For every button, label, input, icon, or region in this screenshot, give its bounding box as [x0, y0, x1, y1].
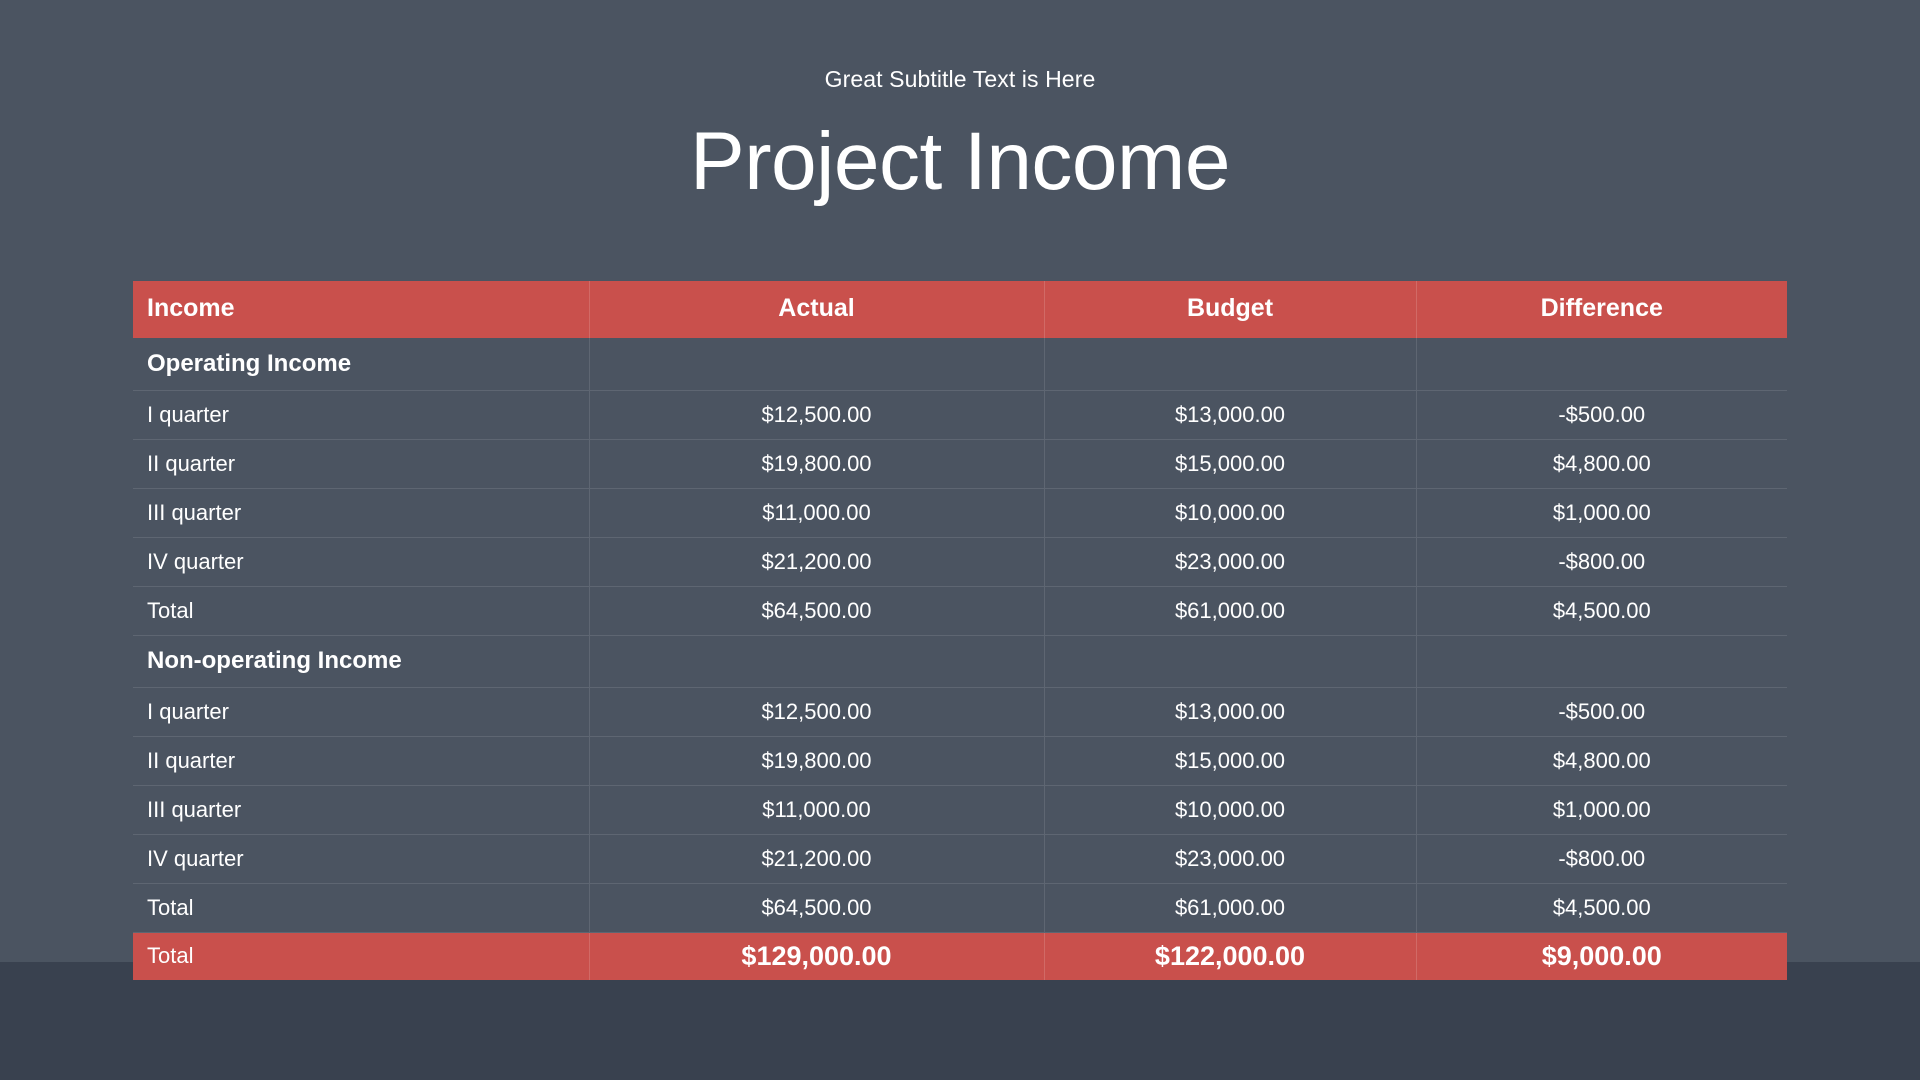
row-label: III quarter	[133, 488, 589, 537]
cell-budget: $15,000.00	[1044, 736, 1416, 785]
cell-difference: $4,500.00	[1416, 586, 1787, 635]
table-row[interactable]: IV quarter$21,200.00$23,000.00-$800.00	[133, 537, 1787, 586]
cell-actual: $21,200.00	[589, 834, 1044, 883]
section-spacer-budget	[1044, 338, 1416, 390]
table-row[interactable]: Total$64,500.00$61,000.00$4,500.00	[133, 883, 1787, 932]
table-row[interactable]: III quarter$11,000.00$10,000.00$1,000.00	[133, 785, 1787, 834]
row-label: I quarter	[133, 687, 589, 736]
cell-budget: $13,000.00	[1044, 687, 1416, 736]
row-label: II quarter	[133, 439, 589, 488]
income-table-container: Income Actual Budget Difference Operatin…	[133, 281, 1787, 980]
table-header-row: Income Actual Budget Difference	[133, 281, 1787, 338]
cell-actual: $21,200.00	[589, 537, 1044, 586]
table-row[interactable]: IV quarter$21,200.00$23,000.00-$800.00	[133, 834, 1787, 883]
cell-difference: $4,800.00	[1416, 736, 1787, 785]
slide-header: Great Subtitle Text is Here Project Inco…	[0, 0, 1920, 205]
cell-actual: $64,500.00	[589, 586, 1044, 635]
cell-difference: -$800.00	[1416, 537, 1787, 586]
row-label: I quarter	[133, 390, 589, 439]
cell-actual: $11,000.00	[589, 488, 1044, 537]
income-table: Income Actual Budget Difference Operatin…	[133, 281, 1787, 980]
row-label: IV quarter	[133, 537, 589, 586]
cell-budget: $10,000.00	[1044, 488, 1416, 537]
row-label: Total	[133, 586, 589, 635]
column-header-budget[interactable]: Budget	[1044, 281, 1416, 338]
cell-actual: $19,800.00	[589, 439, 1044, 488]
row-label: Total	[133, 883, 589, 932]
cell-actual: $12,500.00	[589, 390, 1044, 439]
cell-difference: $1,000.00	[1416, 785, 1787, 834]
row-label: II quarter	[133, 736, 589, 785]
cell-budget: $13,000.00	[1044, 390, 1416, 439]
cell-budget: $61,000.00	[1044, 586, 1416, 635]
table-body: Operating IncomeI quarter$12,500.00$13,0…	[133, 338, 1787, 980]
table-section-row: Operating Income	[133, 338, 1787, 390]
table-section-row: Non-operating Income	[133, 635, 1787, 687]
cell-budget: $10,000.00	[1044, 785, 1416, 834]
grand-total-label: Total	[133, 932, 589, 980]
table-row[interactable]: II quarter$19,800.00$15,000.00$4,800.00	[133, 439, 1787, 488]
cell-budget: $23,000.00	[1044, 834, 1416, 883]
cell-difference: $1,000.00	[1416, 488, 1787, 537]
row-label: III quarter	[133, 785, 589, 834]
column-header-difference[interactable]: Difference	[1416, 281, 1787, 338]
page-title: Project Income	[0, 119, 1920, 205]
grand-total-actual: $129,000.00	[589, 932, 1044, 980]
cell-budget: $61,000.00	[1044, 883, 1416, 932]
cell-actual: $12,500.00	[589, 687, 1044, 736]
section-spacer-actual	[589, 635, 1044, 687]
section-heading: Operating Income	[133, 338, 589, 390]
cell-actual: $19,800.00	[589, 736, 1044, 785]
table-head: Income Actual Budget Difference	[133, 281, 1787, 338]
table-row[interactable]: Total$64,500.00$61,000.00$4,500.00	[133, 586, 1787, 635]
cell-actual: $64,500.00	[589, 883, 1044, 932]
cell-difference: $4,800.00	[1416, 439, 1787, 488]
column-header-income[interactable]: Income	[133, 281, 589, 338]
cell-difference: $4,500.00	[1416, 883, 1787, 932]
cell-difference: -$500.00	[1416, 390, 1787, 439]
section-spacer-diff	[1416, 635, 1787, 687]
column-header-actual[interactable]: Actual	[589, 281, 1044, 338]
cell-budget: $15,000.00	[1044, 439, 1416, 488]
table-row[interactable]: II quarter$19,800.00$15,000.00$4,800.00	[133, 736, 1787, 785]
section-spacer-budget	[1044, 635, 1416, 687]
cell-budget: $23,000.00	[1044, 537, 1416, 586]
section-spacer-diff	[1416, 338, 1787, 390]
grand-total-budget: $122,000.00	[1044, 932, 1416, 980]
cell-actual: $11,000.00	[589, 785, 1044, 834]
slide-subtitle: Great Subtitle Text is Here	[0, 68, 1920, 91]
section-heading: Non-operating Income	[133, 635, 589, 687]
section-spacer-actual	[589, 338, 1044, 390]
row-label: IV quarter	[133, 834, 589, 883]
grand-total-difference: $9,000.00	[1416, 932, 1787, 980]
cell-difference: -$500.00	[1416, 687, 1787, 736]
table-row[interactable]: I quarter$12,500.00$13,000.00-$500.00	[133, 390, 1787, 439]
table-row[interactable]: I quarter$12,500.00$13,000.00-$500.00	[133, 687, 1787, 736]
cell-difference: -$800.00	[1416, 834, 1787, 883]
table-row[interactable]: III quarter$11,000.00$10,000.00$1,000.00	[133, 488, 1787, 537]
grand-total-row: Total$129,000.00$122,000.00$9,000.00	[133, 932, 1787, 980]
